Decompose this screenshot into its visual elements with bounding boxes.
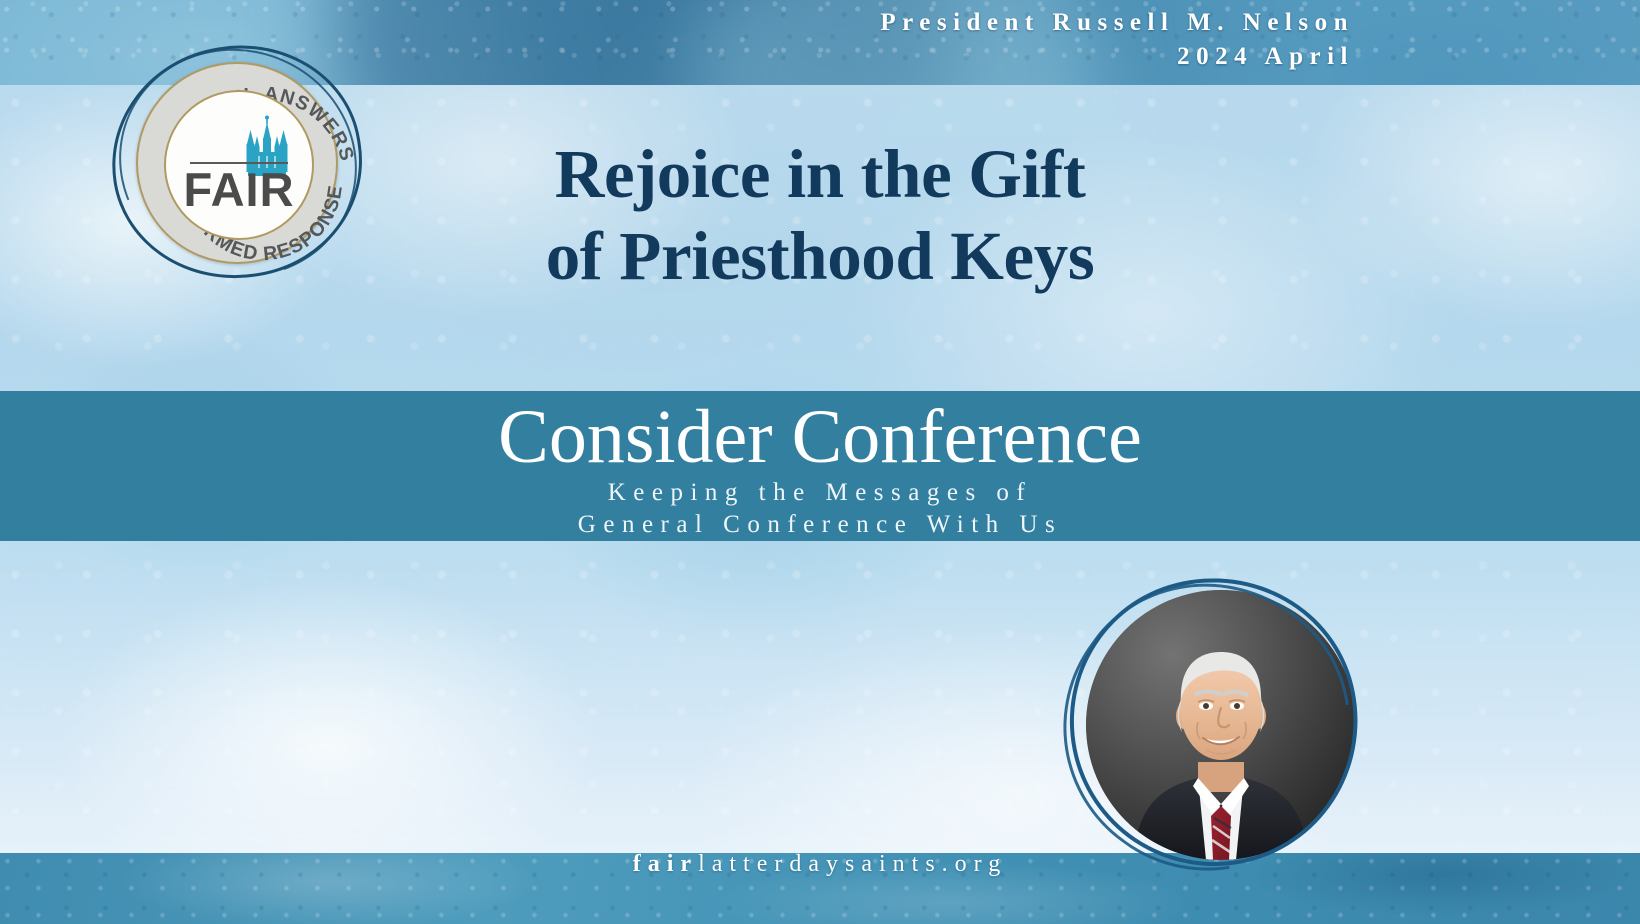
fair-logo[interactable]: FAITHFUL ANSWERS INFORMED RESPONSE xyxy=(112,46,362,278)
logo-inner-disc: FAIR xyxy=(164,90,314,240)
conference-quote-slide: President Russell M. Nelson 2024 April R… xyxy=(0,0,1640,924)
banner-content: Consider Conference Keeping the Messages… xyxy=(0,391,1640,541)
speaker-header: President Russell M. Nelson 2024 April xyxy=(880,6,1354,74)
footer-url[interactable]: fairlatterdaysaints.org xyxy=(0,838,1640,890)
banner-subtitle-line-2: General Conference With Us xyxy=(578,509,1062,541)
banner-heading: Consider Conference xyxy=(498,397,1142,477)
footer-url-bold: fair xyxy=(633,851,698,877)
footer-url-rest: latterdaysaints.org xyxy=(698,851,1007,877)
logo-badge: FAITHFUL ANSWERS INFORMED RESPONSE xyxy=(136,62,338,264)
speaker-name: President Russell M. Nelson xyxy=(880,6,1354,40)
speaker-portrait xyxy=(1086,590,1356,860)
logo-wordmark: FAIR xyxy=(166,166,312,213)
banner-subtitle-line-1: Keeping the Messages of xyxy=(608,477,1033,509)
conference-session: 2024 April xyxy=(880,40,1354,74)
